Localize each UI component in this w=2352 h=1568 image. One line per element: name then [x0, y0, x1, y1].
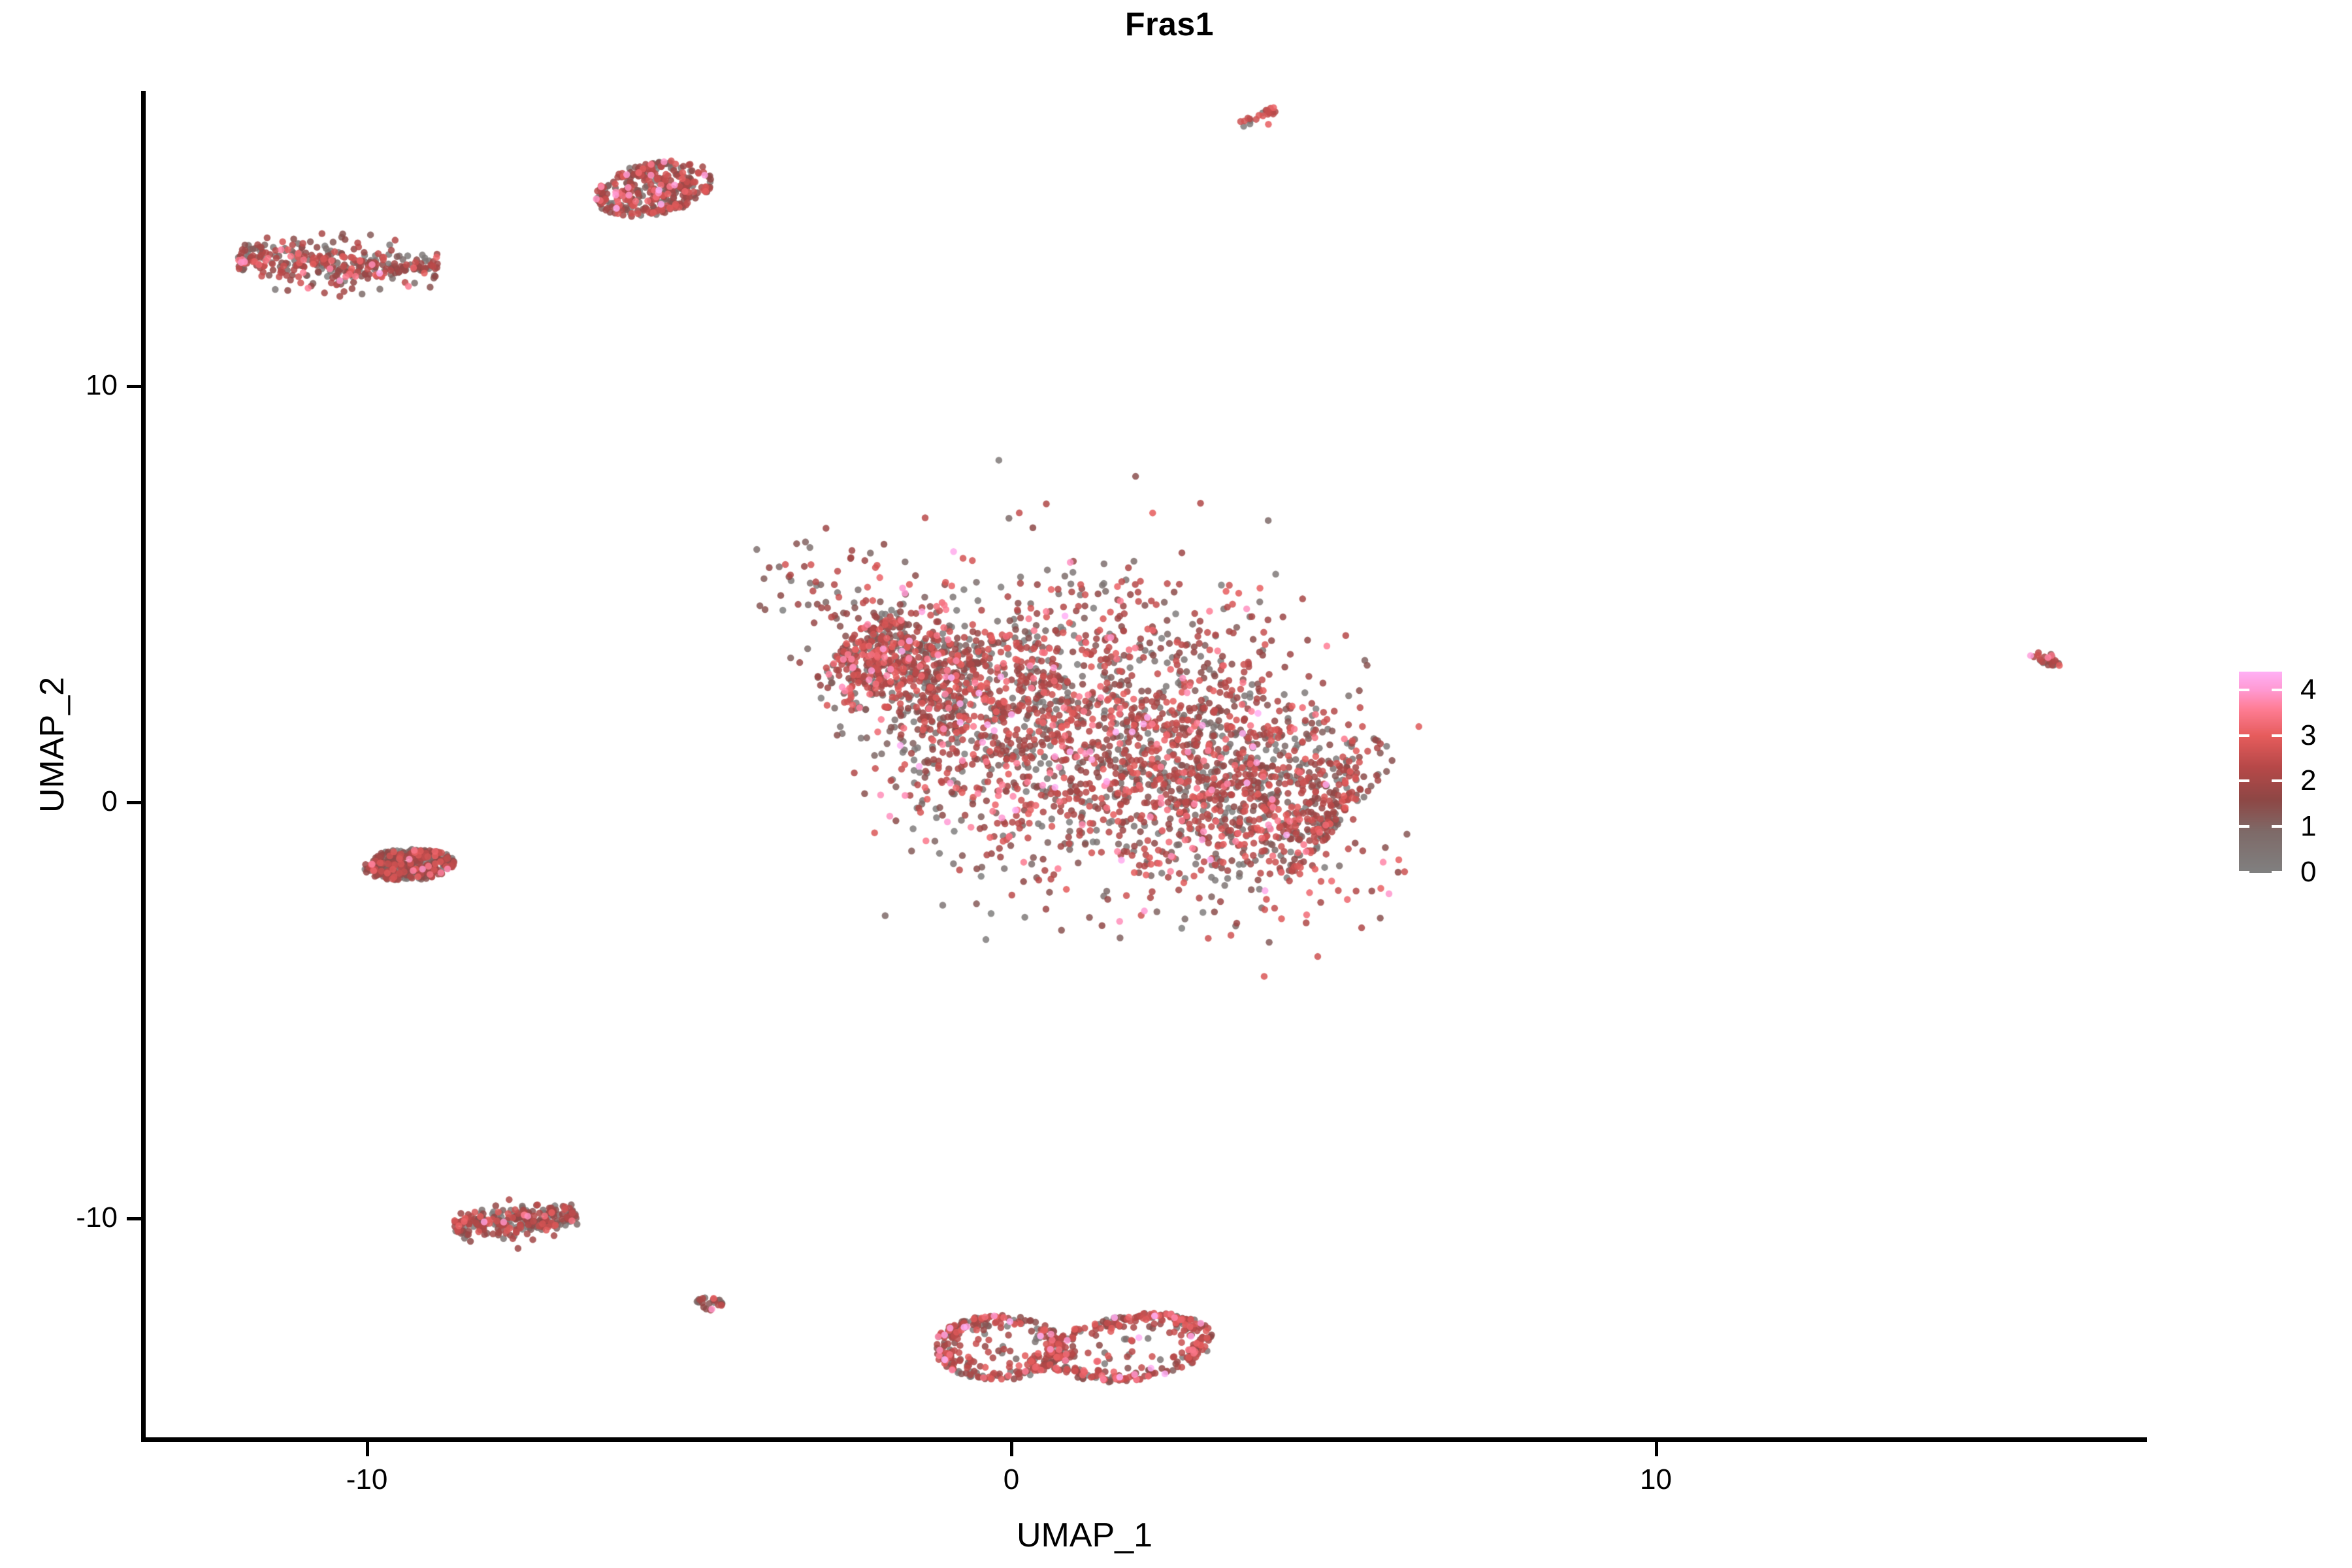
legend-tick-1-left — [2239, 825, 2249, 828]
legend-tick-3-left — [2239, 734, 2249, 737]
y-tick-mark-neg10 — [127, 1217, 141, 1220]
legend-tick-4-right — [2272, 689, 2282, 691]
legend-label-4: 4 — [2300, 676, 2316, 704]
legend-tick-1-right — [2272, 825, 2282, 828]
page-title: Fras1 — [0, 5, 2352, 43]
color-legend-gradient — [2239, 672, 2282, 873]
x-tick-mark-neg10 — [366, 1442, 369, 1456]
legend-tick-0-left — [2239, 871, 2249, 874]
legend-tick-2-left — [2239, 779, 2249, 782]
legend-tick-2-right — [2272, 779, 2282, 782]
x-tick-label-10: 10 — [1591, 1463, 1722, 1496]
y-tick-label-neg10: -10 — [13, 1201, 118, 1234]
title-text: Fras1 — [1125, 5, 1214, 43]
legend-label-1: 1 — [2300, 812, 2316, 841]
x-tick-mark-0 — [1010, 1442, 1013, 1456]
umap-feature-plot: Fras1 10 0 -10 -10 0 10 UMAP_2 UMAP_1 4 … — [0, 0, 2352, 1568]
legend-label-3: 3 — [2300, 721, 2316, 750]
x-tick-label-neg10: -10 — [302, 1463, 433, 1496]
legend-label-0: 0 — [2300, 858, 2316, 887]
legend-tick-4-left — [2239, 689, 2249, 691]
color-legend: 4 3 2 1 0 — [2239, 672, 2282, 873]
y-axis-line — [141, 91, 146, 1442]
x-axis-line — [141, 1437, 2147, 1442]
x-tick-label-0: 0 — [946, 1463, 1077, 1496]
y-tick-mark-10 — [127, 385, 141, 388]
y-axis-title: UMAP_2 — [33, 614, 72, 875]
legend-tick-0-right — [2272, 871, 2282, 874]
y-tick-label-10: 10 — [13, 369, 118, 402]
x-axis-title: UMAP_1 — [0, 1516, 2169, 1555]
plot-panel — [145, 91, 2170, 1439]
y-tick-mark-0 — [127, 801, 141, 804]
legend-label-2: 2 — [2300, 766, 2316, 795]
scatter-canvas — [145, 91, 2170, 1439]
legend-tick-3-right — [2272, 734, 2282, 737]
x-tick-mark-10 — [1655, 1442, 1658, 1456]
